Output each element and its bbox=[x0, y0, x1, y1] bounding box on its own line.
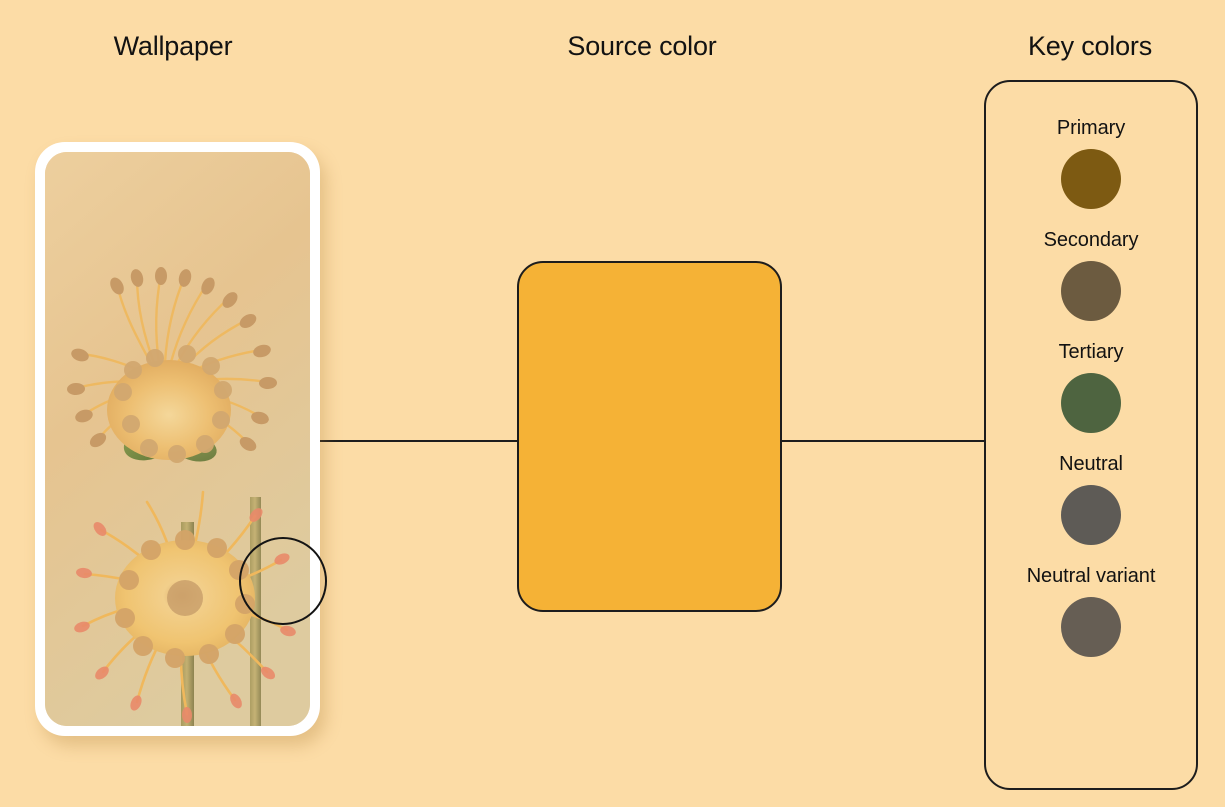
key-color-tertiary-label: Tertiary bbox=[1059, 341, 1124, 364]
key-color-secondary-label: Secondary bbox=[1044, 229, 1139, 252]
key-color-primary-label: Primary bbox=[1057, 117, 1125, 140]
key-color-neutral-label: Neutral bbox=[1059, 453, 1123, 476]
key-color-neutral-variant[interactable]: Neutral variant bbox=[1027, 565, 1156, 657]
key-color-tertiary-dot[interactable] bbox=[1061, 373, 1121, 433]
key-colors-panel: Primary Secondary Tertiary Neutral Neutr… bbox=[984, 80, 1198, 790]
source-to-key-colors-connector-line bbox=[780, 440, 986, 442]
key-color-primary-dot[interactable] bbox=[1061, 149, 1121, 209]
diagram-canvas: Wallpaper Source color Key colors bbox=[0, 0, 1225, 807]
key-color-neutral-variant-label: Neutral variant bbox=[1027, 565, 1156, 588]
wallpaper-to-source-connector-line bbox=[292, 440, 520, 442]
wallpaper-phone-frame[interactable] bbox=[35, 142, 320, 736]
source-color-swatch[interactable] bbox=[517, 261, 782, 612]
source-color-column-title: Source color bbox=[567, 31, 716, 62]
key-color-secondary[interactable]: Secondary bbox=[1044, 229, 1139, 321]
protea-flower-illustration bbox=[45, 152, 310, 726]
key-color-primary[interactable]: Primary bbox=[1057, 117, 1125, 209]
wallpaper-image bbox=[45, 152, 310, 726]
key-color-secondary-dot[interactable] bbox=[1061, 261, 1121, 321]
circle-selection-icon[interactable] bbox=[239, 537, 327, 625]
key-color-neutral[interactable]: Neutral bbox=[1059, 453, 1123, 545]
key-color-neutral-variant-dot[interactable] bbox=[1061, 597, 1121, 657]
key-color-tertiary[interactable]: Tertiary bbox=[1059, 341, 1124, 433]
wallpaper-column-title: Wallpaper bbox=[114, 31, 233, 62]
key-colors-column-title: Key colors bbox=[1028, 31, 1152, 62]
key-color-neutral-dot[interactable] bbox=[1061, 485, 1121, 545]
